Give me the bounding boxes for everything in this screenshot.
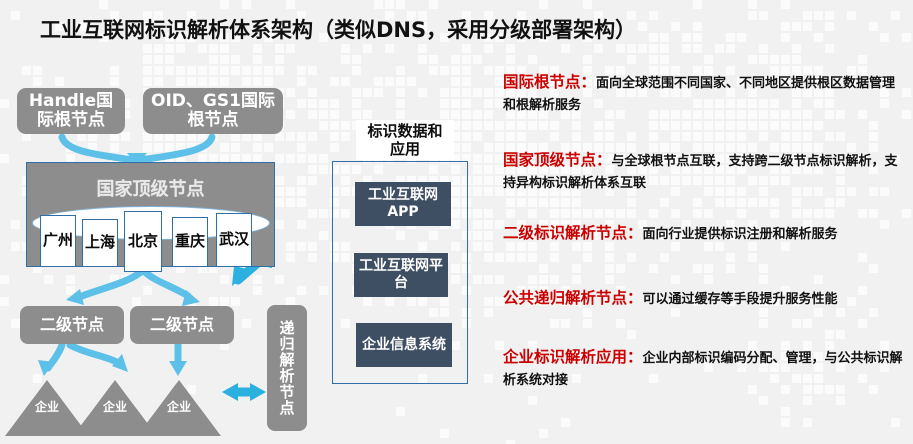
description-second-level-node: 二级标识解析节点：面向行业提供标识注册和解析服务 <box>503 222 903 244</box>
panel-item-industrial-internet-platform[interactable]: 工业互联网平台 <box>354 253 448 297</box>
city-label: 北京 <box>128 234 158 249</box>
item-label: 工业互联网APP <box>355 187 451 221</box>
node-handle-international-root[interactable]: Handle国际根节点 <box>17 88 125 134</box>
node-label: Handle国际根节点 <box>21 92 121 130</box>
node-second-level-2[interactable]: 二级节点 <box>130 306 234 344</box>
description-term: 公共递归解析节点： <box>503 289 643 307</box>
city-node-shanghai[interactable]: 上海 <box>82 219 118 267</box>
node-label: 递归解析节点 <box>277 320 298 416</box>
city-node-beijing[interactable]: 北京 <box>124 211 162 272</box>
description-text: 可以通过缓存等手段提升服务性能 <box>643 292 838 307</box>
description-term: 企业标识解析应用： <box>503 348 643 366</box>
enterprise-label-1: 企业 <box>34 401 60 414</box>
city-node-wuhan[interactable]: 武汉 <box>216 213 252 267</box>
enterprise-label-2: 企业 <box>102 401 128 414</box>
description-term: 国际根节点： <box>503 73 596 91</box>
node-second-level-1[interactable]: 二级节点 <box>20 306 124 344</box>
description-national-top-node: 国家顶级节点：与全球根节点互联，支持跨二级节点标识解析，支持异构标识解析体系互联 <box>503 149 903 193</box>
description-term: 二级标识解析节点： <box>503 224 643 242</box>
node-oid-gs1-international-root[interactable]: OID、GS1国际根节点 <box>143 88 283 134</box>
node-recursive-resolution[interactable]: 递归解析节点 <box>267 305 307 431</box>
node-label: 二级节点 <box>40 316 104 334</box>
node-label: OID、GS1国际根节点 <box>147 92 279 130</box>
item-label: 工业互联网平台 <box>354 258 448 292</box>
city-node-chongqing[interactable]: 重庆 <box>172 217 208 267</box>
description-public-recursive-node: 公共递归解析节点：可以通过缓存等手段提升服务性能 <box>503 287 903 309</box>
slide-canvas: 工业互联网标识解析体系架构（类似DNS，采用分级部署架构） <box>0 0 913 444</box>
panel-item-industrial-internet-app[interactable]: 工业互联网APP <box>355 182 451 226</box>
node-label: 国家顶级节点 <box>27 175 274 201</box>
item-label: 企业信息系统 <box>362 337 446 354</box>
city-node-guangzhou[interactable]: 广州 <box>40 215 76 267</box>
city-label: 上海 <box>85 235 115 250</box>
description-term: 国家顶级节点： <box>503 151 612 169</box>
page-title: 工业互联网标识解析体系架构（类似DNS，采用分级部署架构） <box>40 14 636 44</box>
city-label: 武汉 <box>219 232 249 247</box>
enterprise-label-3: 企业 <box>166 401 192 414</box>
description-enterprise-application: 企业标识解析应用：企业内部标识编码分配、管理，与公共标识解析系统对接 <box>503 346 903 390</box>
description-text: 面向行业提供标识注册和解析服务 <box>643 227 838 242</box>
panel-title-identification-data: 标识数据和应用 <box>356 120 454 160</box>
panel-item-enterprise-information-system[interactable]: 企业信息系统 <box>356 323 452 367</box>
description-international-root: 国际根节点：面向全球范围不同国家、不同地区提供根区数据管理和根解析服务 <box>503 71 903 115</box>
city-label: 重庆 <box>175 234 205 249</box>
node-label: 二级节点 <box>150 316 214 334</box>
city-label: 广州 <box>43 233 73 248</box>
